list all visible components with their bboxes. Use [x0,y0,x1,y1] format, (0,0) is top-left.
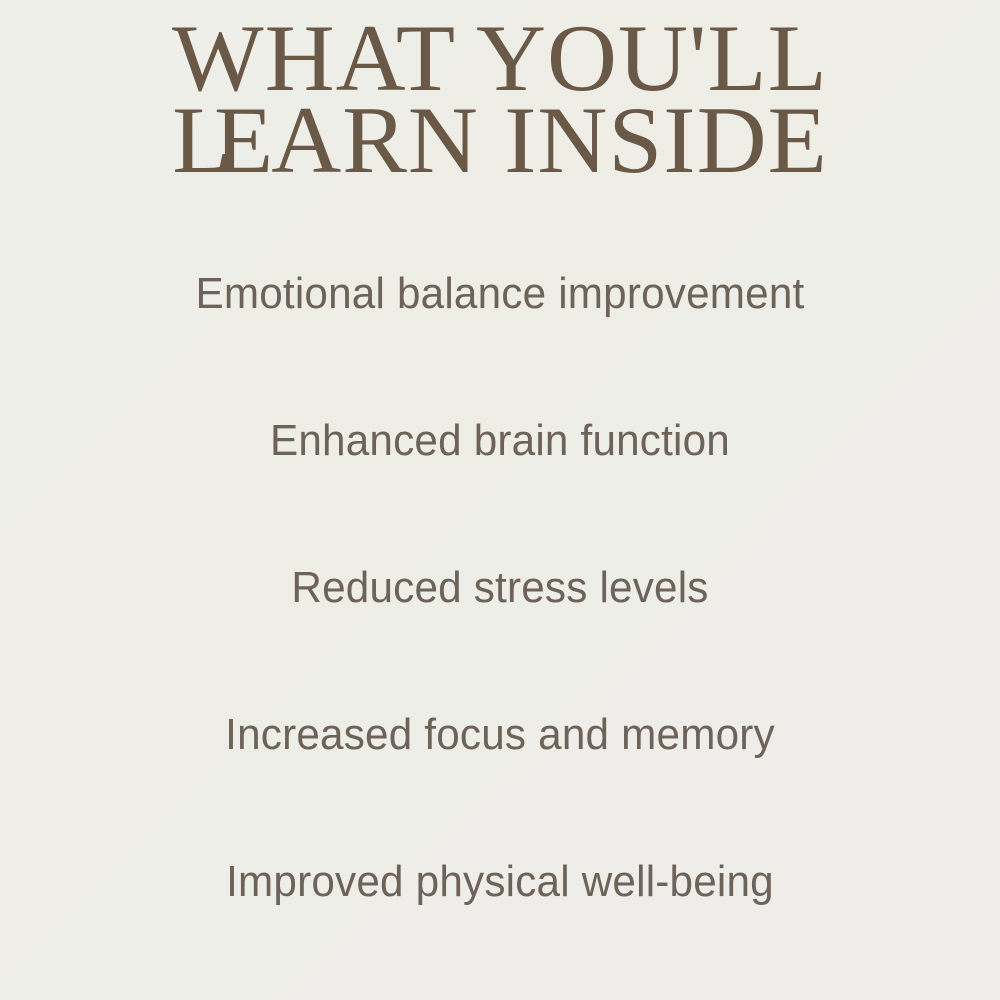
list-item: Reduced stress levels [20,562,980,709]
benefit-label: Reduced stress levels [291,562,708,614]
benefit-label: Emotional balance improvement [196,268,805,320]
benefit-label: Enhanced brain function [270,415,730,467]
poster-canvas: WHAT YOU'LL LEARN INSIDE Emotional balan… [0,0,1000,1000]
benefit-label: Improved physical well-being [226,856,774,908]
page-title: WHAT YOU'LL LEARN INSIDE [0,14,1000,185]
list-item: Emotional balance improvement [20,268,980,415]
page-title-line-2: LEARN INSIDE [0,96,1000,184]
page-title-line-2-rest: ARN INSIDE [271,87,828,193]
list-item: Improved physical well-being [20,856,980,1000]
list-item: Increased focus and memory [20,709,980,856]
benefit-label: Increased focus and memory [225,709,775,761]
list-item: Enhanced brain function [20,415,980,562]
page-title-line-2-ligature: LE [172,87,256,193]
benefits-list: Emotional balance improvement Enhanced b… [0,268,1000,1000]
